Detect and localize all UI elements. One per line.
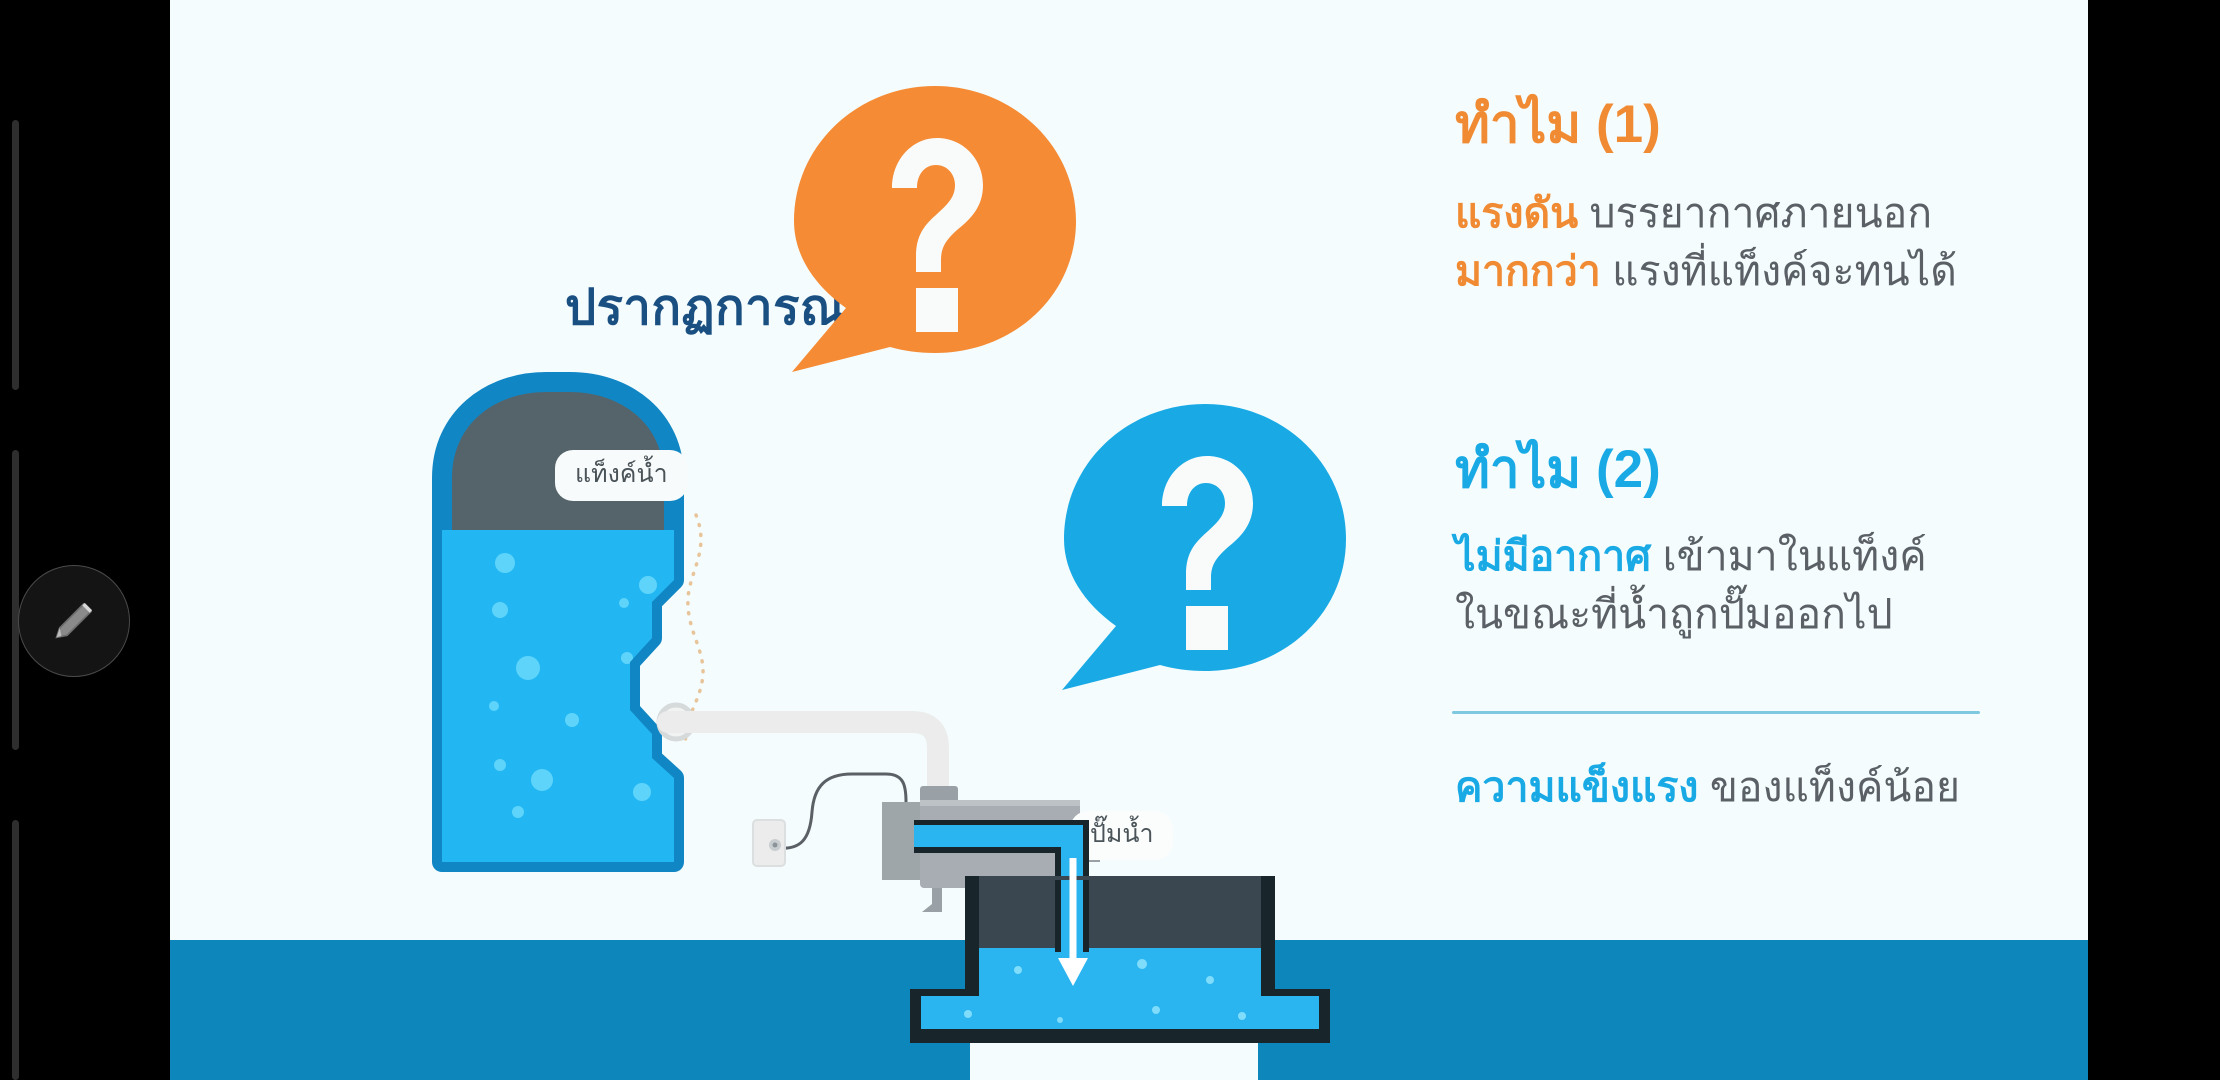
tank-label: แท็งค์น้ำ	[555, 450, 688, 501]
reason-1-lines: แรงดัน บรรยากาศภายนอก มากกว่า แรงที่แท็ง…	[1455, 184, 1957, 300]
question-bubble-blue	[1050, 398, 1360, 693]
reason-1-title: ทำไม (1)	[1455, 95, 1957, 156]
reason-2-line-1-highlight: ไม่มีอากาศ	[1455, 533, 1651, 579]
question-bubble-orange	[780, 80, 1090, 375]
strength-note-highlight: ความแข็งแรง	[1455, 764, 1698, 810]
screen: ปรากฏการณ์ ทำไม (1) แรงดัน บรรยากาศภายนอ…	[0, 0, 2220, 1080]
reason-2-line-2-rest: ในขณะที่น้ำถูกปั๊มออกไป	[1455, 591, 1893, 637]
section-divider	[1452, 711, 1980, 714]
reason-1-line-1: แรงดัน บรรยากาศภายนอก	[1455, 184, 1957, 242]
reason-1-line-1-highlight: แรงดัน	[1455, 190, 1578, 236]
edge-rail-middle[interactable]	[12, 450, 19, 750]
basin-graphic	[910, 820, 1330, 1080]
reason-1-line-2-rest: แรงที่แท็งค์จะทนได้	[1601, 248, 1957, 294]
reason-1-line-2-highlight: มากกว่า	[1455, 248, 1601, 294]
strength-note-rest: ของแท็งค์น้อย	[1698, 764, 1960, 810]
strength-note: ความแข็งแรง ของแท็งค์น้อย	[1455, 755, 1960, 820]
reason-2-line-2: ในขณะที่น้ำถูกปั๊มออกไป	[1455, 585, 1927, 643]
reason-2-title: ทำไม (2)	[1455, 440, 1927, 501]
reason-1-line-2: มากกว่า แรงที่แท็งค์จะทนได้	[1455, 242, 1957, 300]
slide-canvas: ปรากฏการณ์ ทำไม (1) แรงดัน บรรยากาศภายนอ…	[170, 0, 2088, 1080]
reason-block-2: ทำไม (2) ไม่มีอากาศ เข้ามาในแท็งค์ ในขณะ…	[1455, 440, 1927, 643]
reason-2-line-1-rest: เข้ามาในแท็งค์	[1651, 533, 1926, 579]
reason-2-lines: ไม่มีอากาศ เข้ามาในแท็งค์ ในขณะที่น้ำถูก…	[1455, 527, 1927, 643]
reason-2-line-1: ไม่มีอากาศ เข้ามาในแท็งค์	[1455, 527, 1927, 585]
edge-rail-top[interactable]	[12, 120, 19, 390]
basin-water	[921, 948, 1319, 1029]
edit-button[interactable]	[18, 565, 130, 677]
reason-block-1: ทำไม (1) แรงดัน บรรยากาศภายนอก มากกว่า แ…	[1455, 95, 1957, 300]
suction-pipe	[668, 722, 938, 790]
edge-rail-bottom[interactable]	[12, 820, 19, 1080]
pencil-icon	[48, 595, 100, 647]
device-edge-toolbar	[0, 0, 170, 1080]
reason-1-line-1-rest: บรรยากาศภายนอก	[1578, 190, 1932, 236]
